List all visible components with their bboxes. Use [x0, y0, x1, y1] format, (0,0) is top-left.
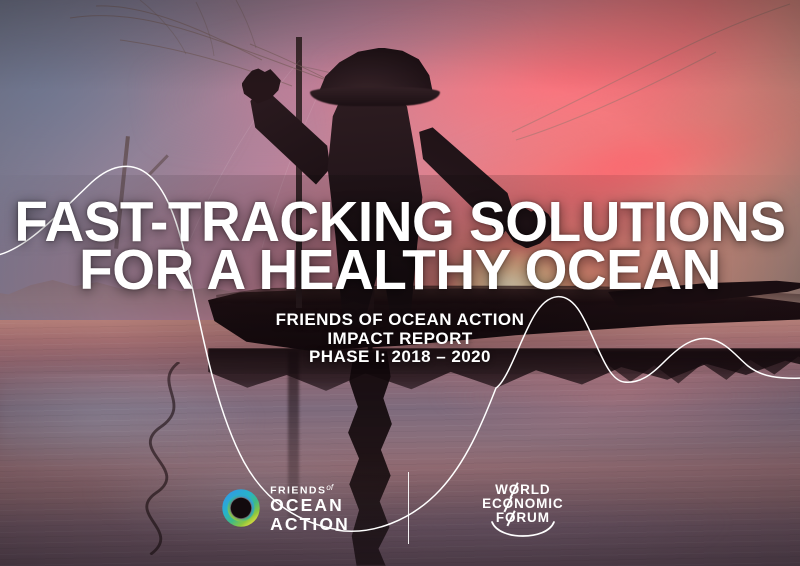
cover-title: FAST-TRACKING SOLUTIONS FOR A HEALTHY OC… — [0, 198, 800, 294]
foa-line-3: ACTION — [270, 515, 350, 534]
foa-line-1: FRIENDSof — [270, 482, 350, 497]
wef-l2-slashed-o: O — [503, 497, 514, 511]
wef-l2-pre: EC — [482, 496, 503, 511]
title-line-2: FOR A HEALTHY OCEAN — [14, 246, 786, 294]
wef-l1-slashed-o: O — [509, 483, 520, 497]
ocean-action-ring-icon — [221, 488, 261, 528]
cover-subtitle: FRIENDS OF OCEAN ACTION IMPACT REPORT PH… — [0, 311, 800, 367]
report-cover: FAST-TRACKING SOLUTIONS FOR A HEALTHY OC… — [0, 0, 800, 566]
wef-smile-arc-icon — [490, 521, 556, 537]
foa-line-2: OCEAN — [270, 496, 350, 515]
foa-wordmark: FRIENDSof OCEAN ACTION — [270, 482, 350, 535]
wef-l2-post: NOMIC — [514, 496, 564, 511]
world-economic-forum-logo: WORLD ECONOMIC FORUM — [467, 483, 579, 534]
vertical-divider — [408, 472, 409, 544]
wef-line-1: WORLD — [467, 483, 579, 497]
subtitle-line-2: IMPACT REPORT — [0, 330, 800, 349]
subtitle-line-3: PHASE I: 2018 – 2020 — [0, 348, 800, 367]
friends-of-ocean-action-logo: FRIENDSof OCEAN ACTION — [221, 482, 350, 535]
foa-of-text: of — [326, 483, 333, 492]
subtitle-line-1: FRIENDS OF OCEAN ACTION — [0, 311, 800, 330]
wef-l1-pre: W — [495, 482, 509, 497]
logo-bar: FRIENDSof OCEAN ACTION WORLD ECONOMIC FO… — [0, 470, 800, 546]
wef-line-2: ECONOMIC — [467, 497, 579, 511]
wef-l1-post: RLD — [520, 482, 550, 497]
